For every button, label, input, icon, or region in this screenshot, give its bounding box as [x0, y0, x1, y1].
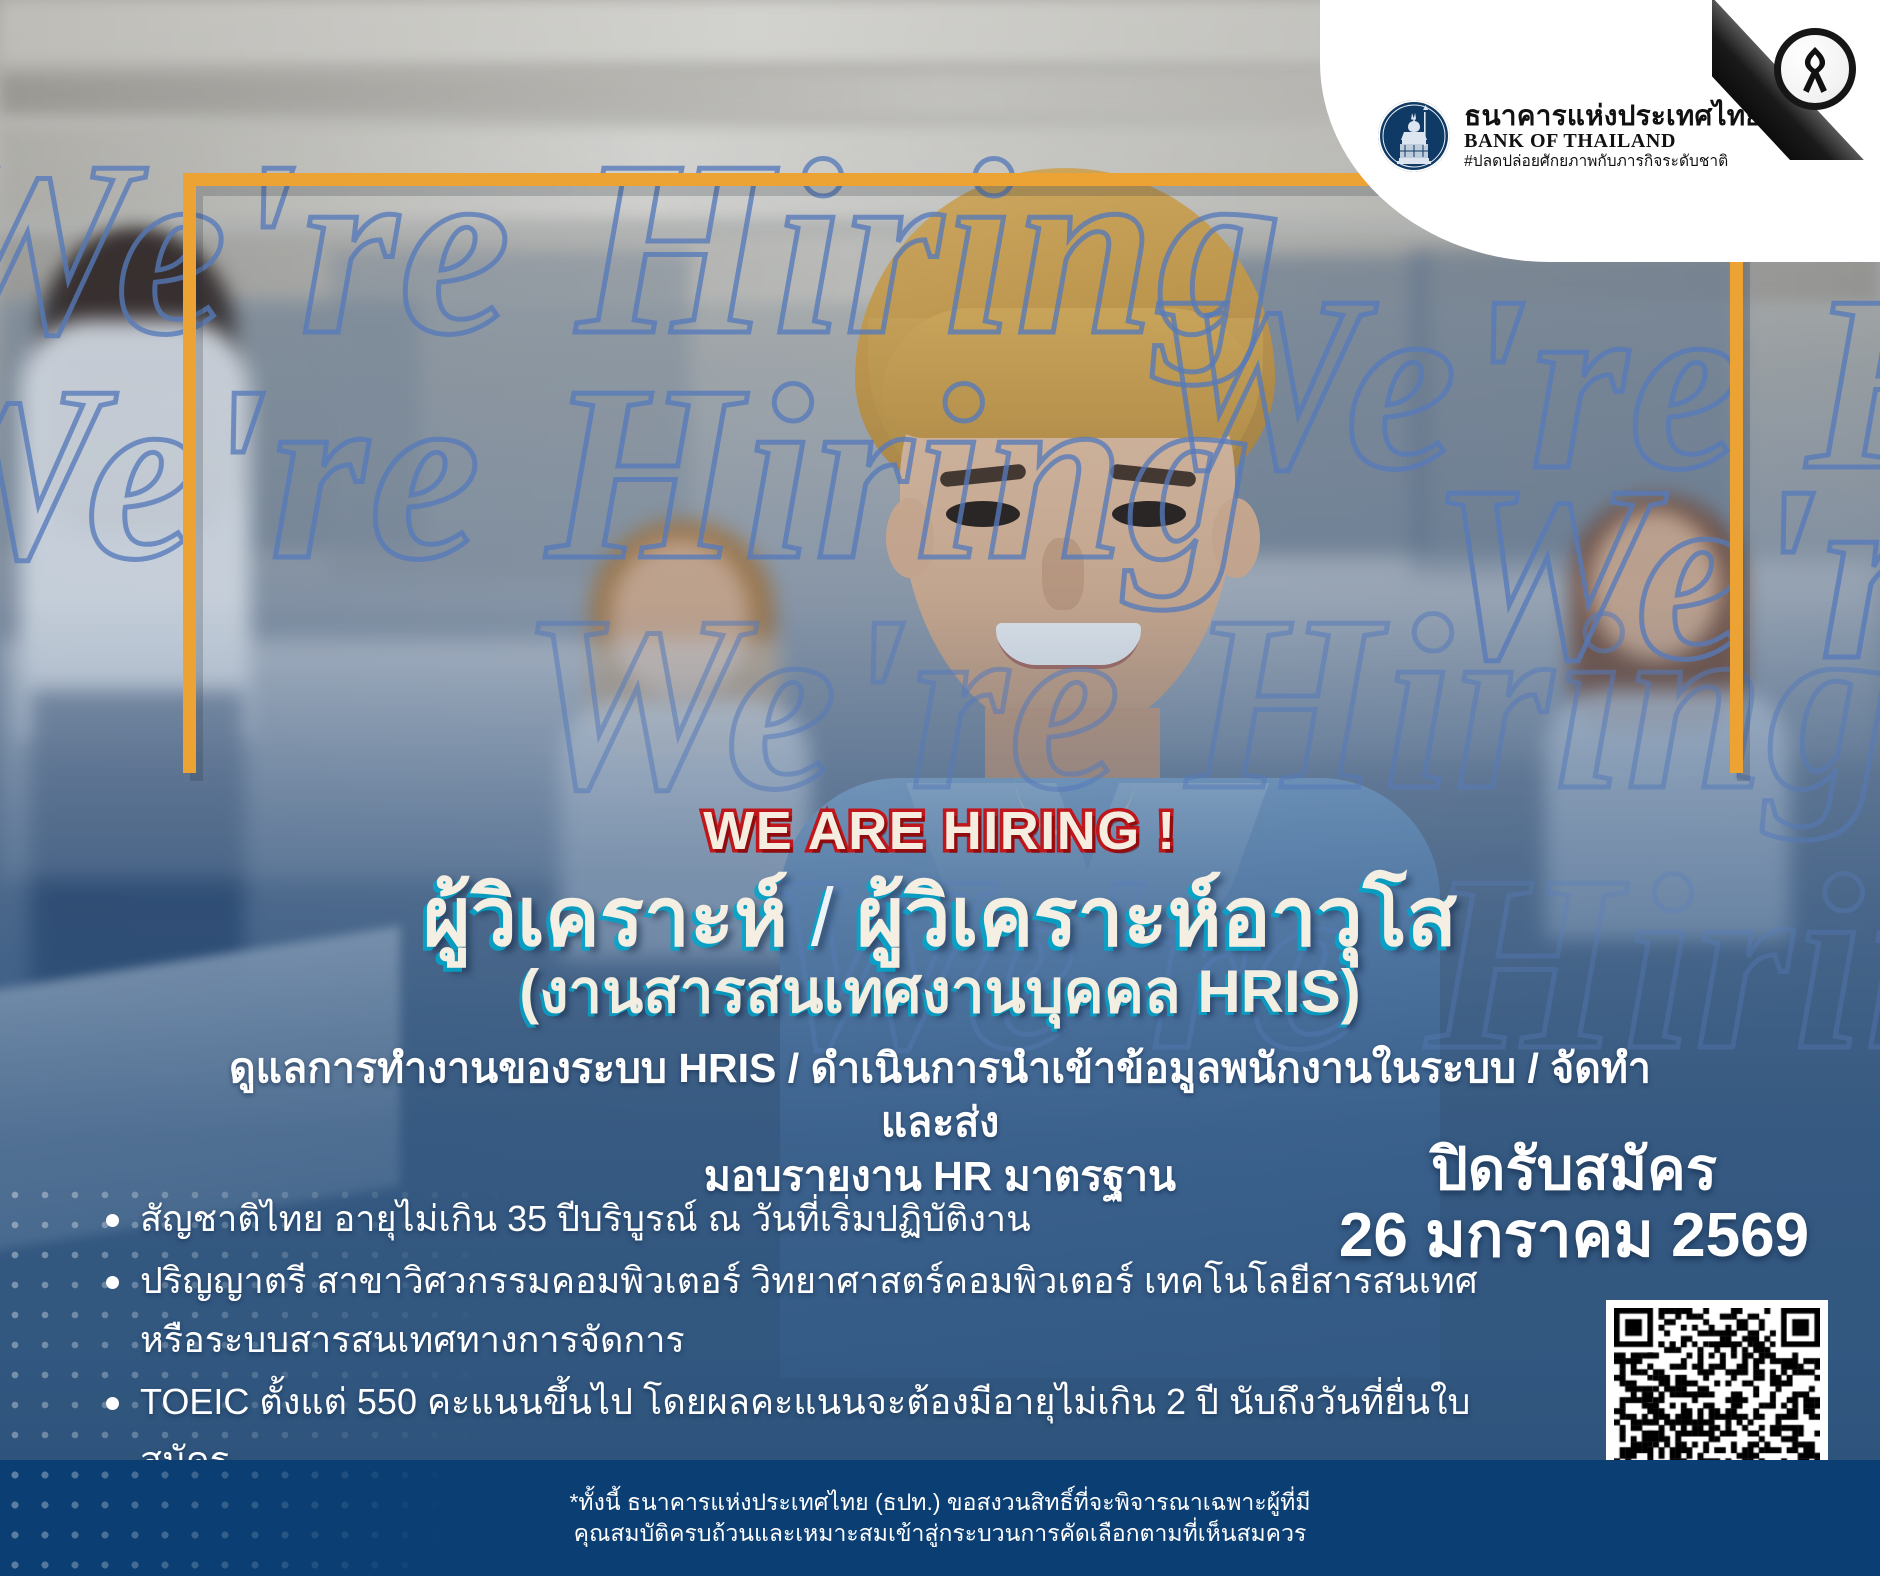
list-item: สัญชาติไทย อายุไม่เกิน 35 ปีบริบูรณ์ ณ ว… — [96, 1190, 1536, 1248]
closing-date-block: ปิดรับสมัคร 26 มกราคม 2569 — [1334, 1140, 1814, 1270]
closing-date-value: 26 มกราคม 2569 — [1334, 1201, 1814, 1270]
eyebrow-we-are-hiring: WE ARE HIRING ! — [0, 800, 1880, 862]
job-subtitle: (งานสารสนเทศงานบุคคล HRIS) — [0, 959, 1880, 1025]
mourning-ribbon-corner — [1712, 0, 1880, 160]
list-item: ปริญญาตรี สาขาวิศวกรรมคอมพิวเตอร์ วิทยาศ… — [96, 1252, 1536, 1369]
job-title-separator: / — [811, 872, 834, 963]
footer-halftone-dots — [0, 1460, 520, 1576]
qualifications-list: สัญชาติไทย อายุไม่เกิน 35 ปีบริบูรณ์ ณ ว… — [96, 1190, 1536, 1494]
bank-of-thailand-logo: ธนาคารแห่งประเทศไทย BANK OF THAILAND #ปล… — [1378, 100, 1762, 172]
footer-line-2: คุณสมบัติครบถ้วนและเหมาะสมเข้าสู่กระบวนก… — [574, 1518, 1307, 1549]
job-title-left: ผู้วิเคราะห์ — [423, 872, 788, 963]
bot-seal-icon — [1378, 100, 1450, 172]
footer-line-1: *ทั้งนี้ ธนาคารแห่งประเทศไทย (ธปท.) ขอสง… — [569, 1487, 1310, 1518]
recruitment-poster: We're Hiring We're Hiring We're Hiring W… — [0, 0, 1880, 1576]
job-title: ผู้วิเคราะห์ / ผู้วิเคราะห์อาวุโส — [0, 874, 1880, 963]
job-description-line-1: ดูแลการทำงานของระบบ HRIS / ดำเนินการนำเข… — [229, 1045, 1651, 1145]
mourning-ribbon-icon — [1774, 28, 1856, 110]
job-title-right: ผู้วิเคราะห์อาวุโส — [856, 872, 1457, 963]
footer-disclaimer: *ทั้งนี้ ธนาคารแห่งประเทศไทย (ธปท.) ขอสง… — [0, 1460, 1880, 1576]
closing-date-label: ปิดรับสมัคร — [1334, 1140, 1814, 1201]
